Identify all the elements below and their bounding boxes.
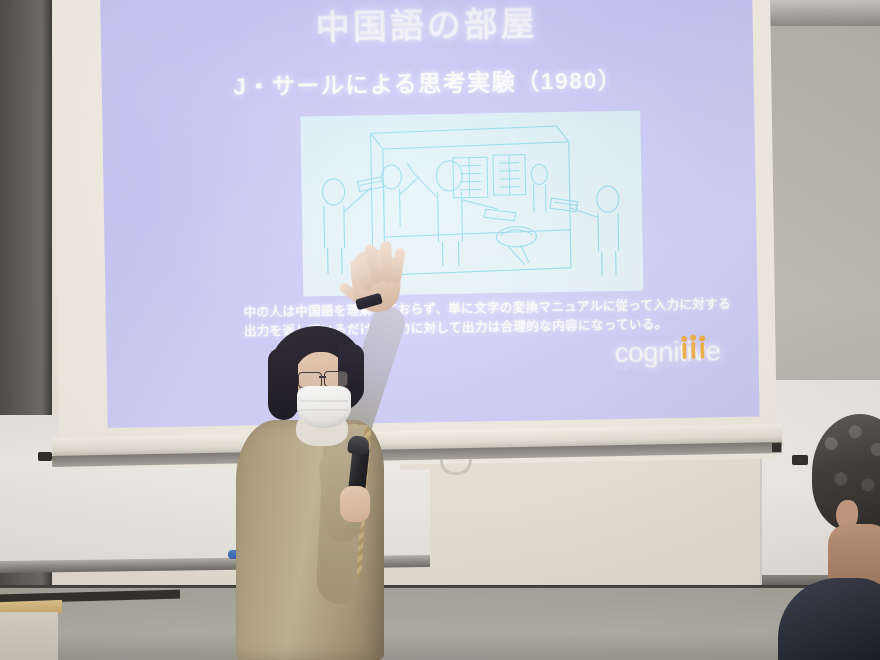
audience-member-neck [828, 524, 880, 584]
whiteboard-left-lower [0, 470, 430, 565]
whiteboard-clip [38, 452, 52, 461]
logo-tagline: cognitive science [615, 362, 760, 371]
chinese-room-line-drawing [300, 111, 643, 297]
projection-screen: 中国語の部屋 J・サールによる思考実験（1980） [100, 0, 760, 428]
whiteboard-right-clip [792, 455, 808, 465]
slide-title: 中国語の部屋 [100, 0, 753, 53]
whiteboard-marker [228, 550, 262, 559]
lecture-room-photo: 中国語の部屋 J・サールによる思考実験（1980） [0, 0, 880, 660]
slide-subtitle: J・サールによる思考実験（1980） [101, 59, 753, 104]
wooden-desk [0, 612, 58, 660]
chinese-room-illustration-svg [300, 111, 643, 297]
screen-end-cap [772, 443, 781, 452]
people-figures-icon [676, 333, 711, 364]
cognitive-logo: cognitive cognitive science [614, 334, 759, 371]
